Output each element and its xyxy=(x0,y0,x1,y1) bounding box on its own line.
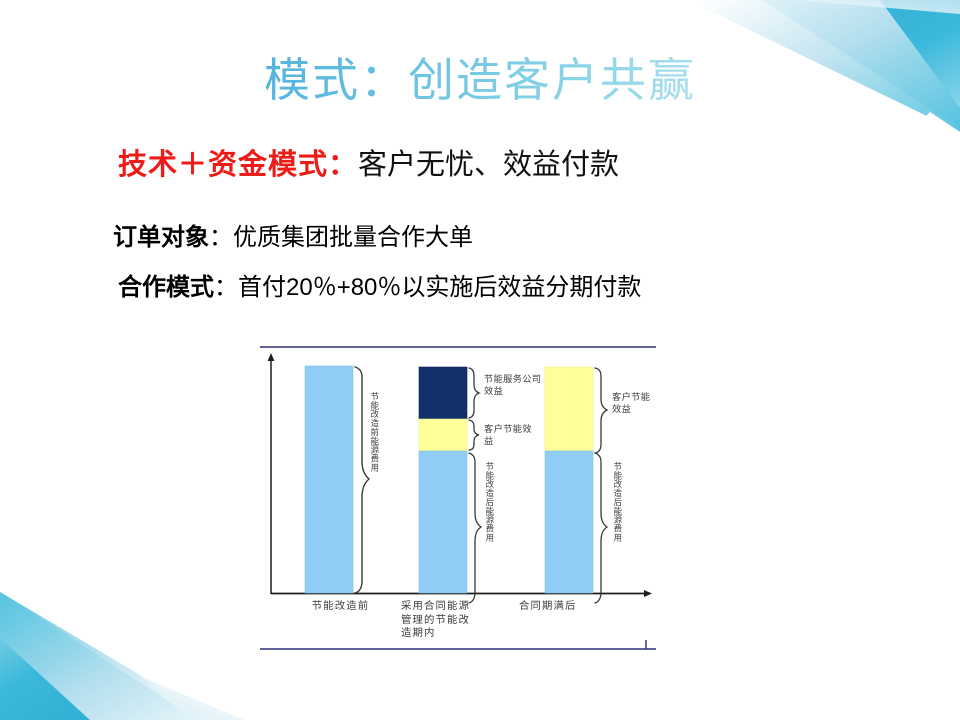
bar2-brace-company xyxy=(469,368,479,418)
page-title: 模式：创造客户共赢 xyxy=(0,52,960,108)
detail-row-order: 订单对象：优质集团批量合作大单 xyxy=(113,222,473,254)
bar2-customer-benefit xyxy=(419,419,467,451)
annotation-bar3-energy-after: 节能改造后能源费用 xyxy=(613,462,622,637)
bar3-brace-customer xyxy=(595,368,607,453)
annotation-bar2-energy-after: 节能改造后能源费用 xyxy=(485,462,494,637)
energy-saving-bar-chart: 节能改造前能源费用 节能服务公司效益 客户节能效益 节能改造后能源费用 客户节能… xyxy=(258,344,658,656)
x-axis-category-2-label: 采用合同能源管理的节能改造期内 xyxy=(401,600,470,639)
x-axis-category-1: 节能改造前 xyxy=(288,600,393,614)
detail-row-mode: 合作模式：首付20％+80％以实施后效益分期付款 xyxy=(118,272,641,304)
bar3-energy-after xyxy=(545,451,593,593)
x-axis-category-3: 合同期满后 xyxy=(519,600,605,614)
annotation-bar1-energy-before: 节能改造前能源费用 xyxy=(370,392,379,572)
bar3-customer-benefit xyxy=(545,367,593,451)
bar2-company-benefit xyxy=(419,367,467,419)
bar3-brace-energy xyxy=(595,453,607,603)
bar2-brace-energy xyxy=(469,453,481,603)
y-axis-arrow xyxy=(268,353,275,361)
annotation-bar2-company-benefit-label: 节能服务公司效益 xyxy=(484,374,542,397)
annotation-bar3-energy-after-label: 节能改造后能源费用 xyxy=(613,462,622,542)
detail-label-order: 订单对象 xyxy=(113,224,209,251)
annotation-bar2-company-benefit: 节能服务公司效益 xyxy=(484,374,542,397)
headline-row: 技术＋资金模式：客户无忧、效益付款 xyxy=(118,146,619,184)
x-axis-category-3-label: 合同期满后 xyxy=(519,600,576,612)
headline-key: 技术＋资金模式： xyxy=(118,149,358,181)
annotation-bar3-customer-benefit: 客户节能效益 xyxy=(612,392,658,415)
bar1-energy-before xyxy=(305,366,353,593)
annotation-bar1-energy-before-label: 节能改造前能源费用 xyxy=(370,392,379,472)
detail-sep-order: ： xyxy=(209,224,233,251)
annotation-bar2-energy-after-label: 节能改造后能源费用 xyxy=(485,462,494,542)
annotation-bar2-customer-benefit-label: 客户节能效益 xyxy=(484,424,532,447)
x-axis-category-2: 采用合同能源管理的节能改造期内 xyxy=(401,600,479,641)
bar1-brace xyxy=(355,367,369,593)
annotation-bar3-customer-benefit-label: 客户节能效益 xyxy=(612,392,650,415)
headline-value: 客户无忧、效益付款 xyxy=(358,149,619,181)
detail-value-order: 优质集团批量合作大单 xyxy=(233,224,473,251)
detail-sep-mode: ： xyxy=(214,274,238,301)
bar2-brace-customer xyxy=(469,420,479,450)
bar2-energy-after xyxy=(419,451,467,593)
x-axis-arrow xyxy=(644,590,652,597)
detail-value-mode: 首付20％+80％以实施后效益分期付款 xyxy=(238,274,641,301)
decoration-bottom-left xyxy=(0,580,260,720)
detail-label-mode: 合作模式 xyxy=(118,274,214,301)
x-axis-category-1-label: 节能改造前 xyxy=(312,600,369,612)
annotation-bar2-customer-benefit: 客户节能效益 xyxy=(484,424,534,447)
